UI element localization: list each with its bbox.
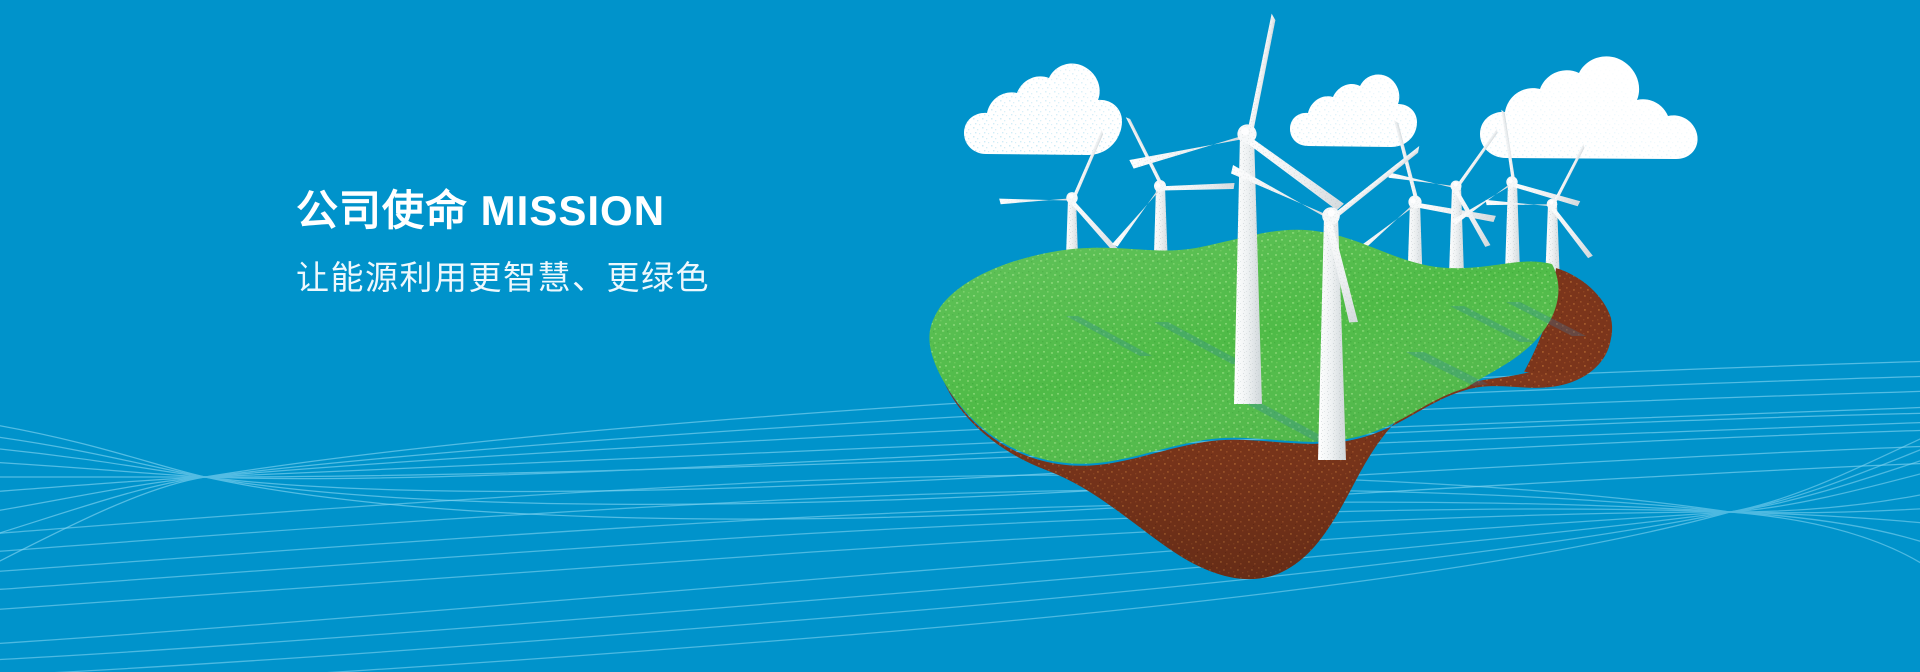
page-subtitle: 让能源利用更智慧、更绿色	[296, 258, 1016, 298]
floating-island-wind-farm-illustration	[0, 0, 1920, 672]
cloud-right-large	[1480, 56, 1698, 159]
cloud-middle	[1290, 75, 1417, 147]
mission-text-block: 公司使命 MISSION 让能源利用更智慧、更绿色	[296, 186, 1016, 297]
page-title: 公司使命 MISSION	[296, 186, 1016, 236]
mission-banner: 公司使命 MISSION 让能源利用更智慧、更绿色	[0, 0, 1920, 672]
